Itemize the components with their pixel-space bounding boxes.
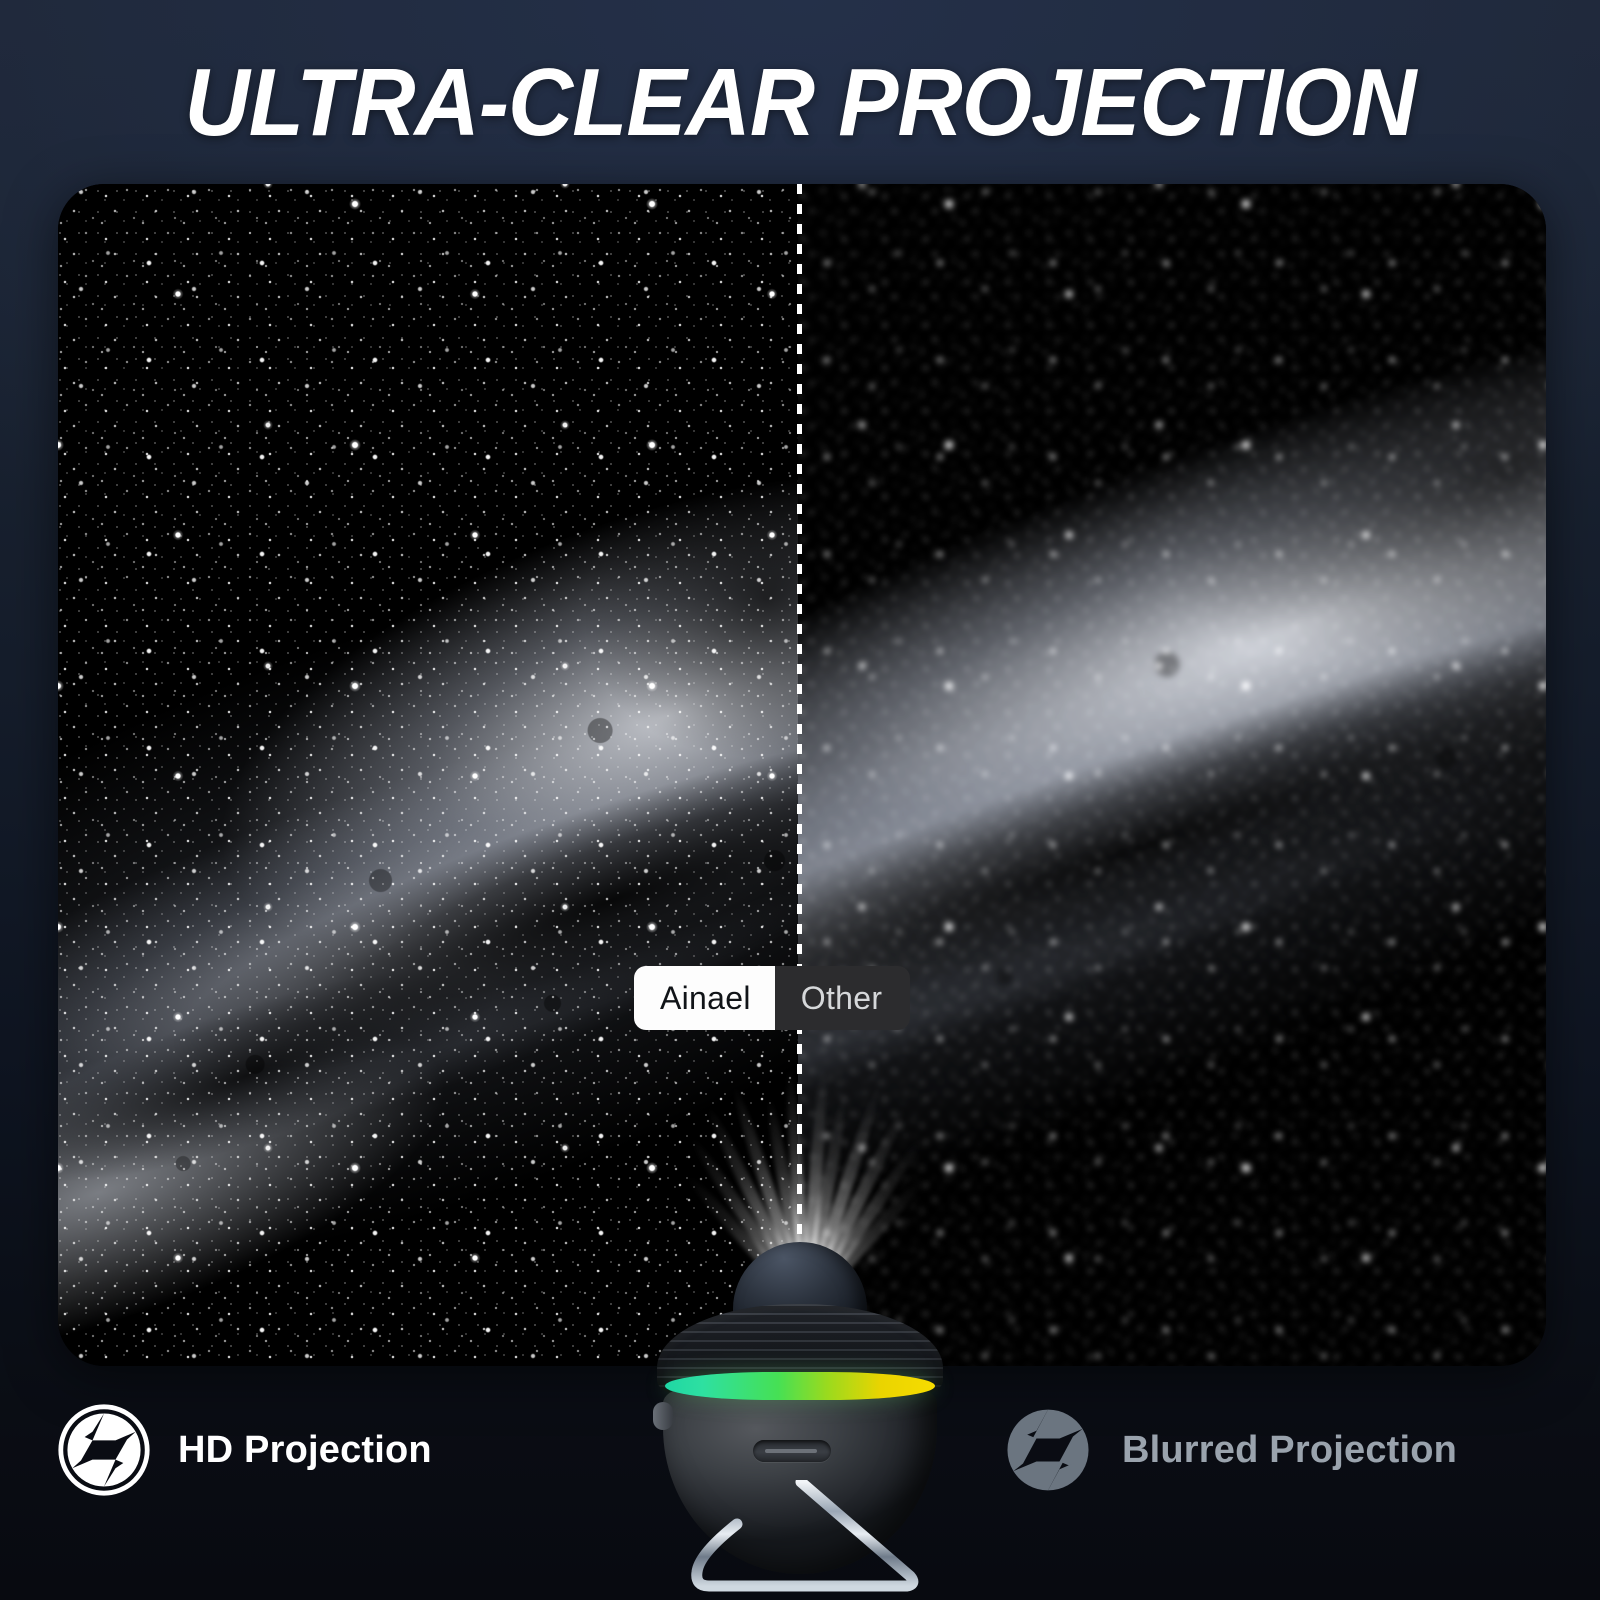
aperture-icon (56, 1402, 152, 1498)
star-layer-bright (798, 184, 1546, 1366)
rgb-light-ring (665, 1372, 935, 1400)
projector-side-port (653, 1402, 673, 1430)
star-projector-device (645, 1242, 955, 1600)
feature-label: HD Projection (178, 1429, 432, 1472)
page-title: ULTRA-CLEAR PROJECTION (48, 48, 1552, 158)
starfield-blurred (798, 184, 1546, 1366)
label-other: Other (775, 966, 911, 1030)
starfield-sharp (58, 184, 798, 1366)
projector-button-indicator (765, 1449, 817, 1453)
feature-label: Blurred Projection (1122, 1429, 1457, 1472)
label-ainael: Ainael (634, 966, 775, 1030)
feature-blurred-projection: Blurred Projection (1000, 1402, 1457, 1498)
comparison-labels: Ainael Other (634, 966, 910, 1030)
aperture-icon (1000, 1402, 1096, 1498)
feature-hd-projection: HD Projection (56, 1402, 432, 1498)
comparison-divider (797, 184, 802, 1366)
comparison-panel (58, 184, 1546, 1366)
star-layer-bright (58, 184, 798, 1366)
promo-image-root: ULTRA-CLEAR PROJECTION (0, 0, 1600, 1600)
carabiner-stand-icon (667, 1480, 935, 1598)
